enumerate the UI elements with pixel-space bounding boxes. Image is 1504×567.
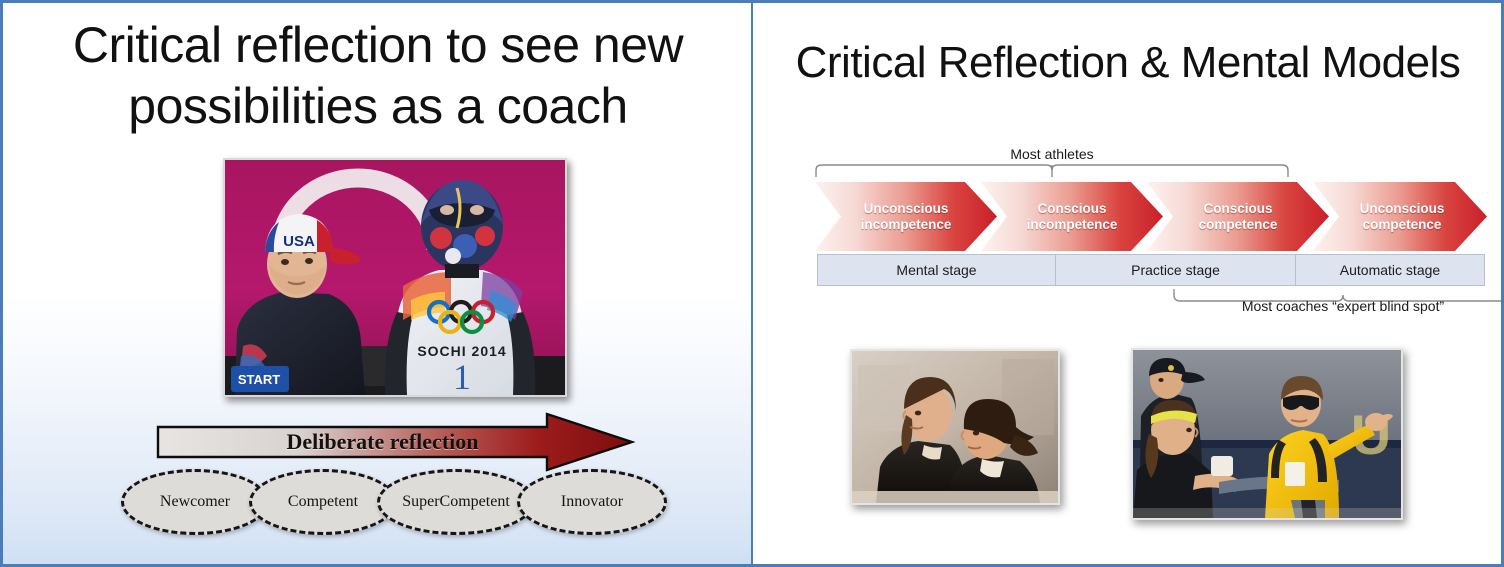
- left-panel: Critical reflection to see new possibili…: [3, 3, 753, 564]
- competence-arrows: [815, 182, 1487, 251]
- most-athletes-label: Most athletes: [815, 146, 1289, 162]
- svg-text:START: START: [238, 372, 280, 387]
- stage-ellipse-newcomer[interactable]: Newcomer: [121, 469, 269, 535]
- arrow-2: [981, 182, 1163, 251]
- coach-photo-art: U: [1133, 350, 1401, 518]
- stage-box-mental[interactable]: Mental stage: [817, 254, 1055, 286]
- most-athletes-bracket: [815, 164, 1289, 178]
- stage-ellipse-label: Competent: [288, 493, 358, 511]
- stage-box-label: Mental stage: [896, 262, 976, 278]
- stage-ellipse-label: SuperCompetent: [402, 493, 510, 511]
- stage-box-label: Automatic stage: [1340, 262, 1440, 278]
- left-panel-title: Critical reflection to see new possibili…: [43, 15, 713, 137]
- stage-ellipse-innovator[interactable]: Innovator: [517, 469, 667, 535]
- reflection-stage-ellipses: Newcomer Competent SuperCompetent Innova…: [121, 469, 661, 531]
- svg-text:1: 1: [453, 357, 471, 395]
- stage-ellipse-label: Innovator: [561, 493, 623, 511]
- stage-ellipse-supercompetent[interactable]: SuperCompetent: [377, 469, 535, 535]
- stage-box-label: Practice stage: [1131, 262, 1220, 278]
- stage-ellipse-label: Newcomer: [160, 493, 230, 511]
- arrow-4: [1313, 182, 1487, 251]
- stage-box-practice[interactable]: Practice stage: [1055, 254, 1295, 286]
- competence-diagram: Most athletes: [815, 146, 1487, 321]
- right-panel-title: Critical Reflection & Mental Models: [773, 35, 1483, 91]
- luge-photo-art: USA START: [225, 160, 565, 395]
- deliberate-reflection-arrow-shape: [155, 411, 635, 473]
- stage-box-automatic[interactable]: Automatic stage: [1295, 254, 1485, 286]
- slide-canvas: Critical reflection to see new possibili…: [0, 0, 1504, 567]
- svg-text:USA: USA: [283, 233, 315, 250]
- softball-coach-photo: U: [1131, 348, 1403, 520]
- expert-blind-spot-label: Most coaches “expert blind spot”: [1115, 298, 1504, 314]
- mentoring-conversation-photo: Two women in dark jackets sitting and li…: [850, 349, 1060, 505]
- stage-boxes: Mental stage Practice stage Automatic st…: [817, 254, 1485, 286]
- mentoring-photo-art: [852, 351, 1058, 503]
- arrow-3: [1147, 182, 1329, 251]
- stage-ellipse-competent[interactable]: Competent: [249, 469, 397, 535]
- arrow-1: [815, 182, 997, 251]
- luge-coach-athlete-photo: USA START: [223, 158, 567, 397]
